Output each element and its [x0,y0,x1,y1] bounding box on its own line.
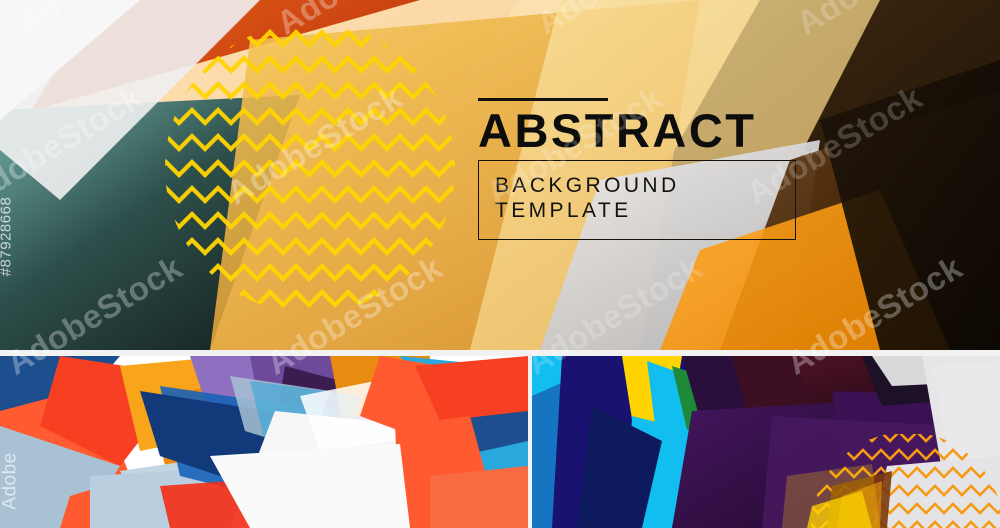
subtitle-line-1: BACKGROUND [495,174,779,199]
banner-bg: BG ABSTRACT [0,356,528,528]
stock-image-canvas: ABSTRACT BACKGROUND TEMPLATE [0,0,1000,528]
main-title-block: ABSTRACT BACKGROUND TEMPLATE [478,98,798,240]
page-title: ABSTRACT [478,108,798,154]
banner-bg-geometry [0,356,528,528]
subtitle-box: BACKGROUND TEMPLATE [478,160,796,240]
subtitle-line-2: TEMPLATE [495,199,779,224]
banner-abstract-geometry [532,356,1000,528]
banner-abstract: ABSTRACT BACKGROUND TEMPLATE [532,356,1000,528]
main-banner: ABSTRACT BACKGROUND TEMPLATE [0,0,1000,350]
title-rule [478,98,608,101]
